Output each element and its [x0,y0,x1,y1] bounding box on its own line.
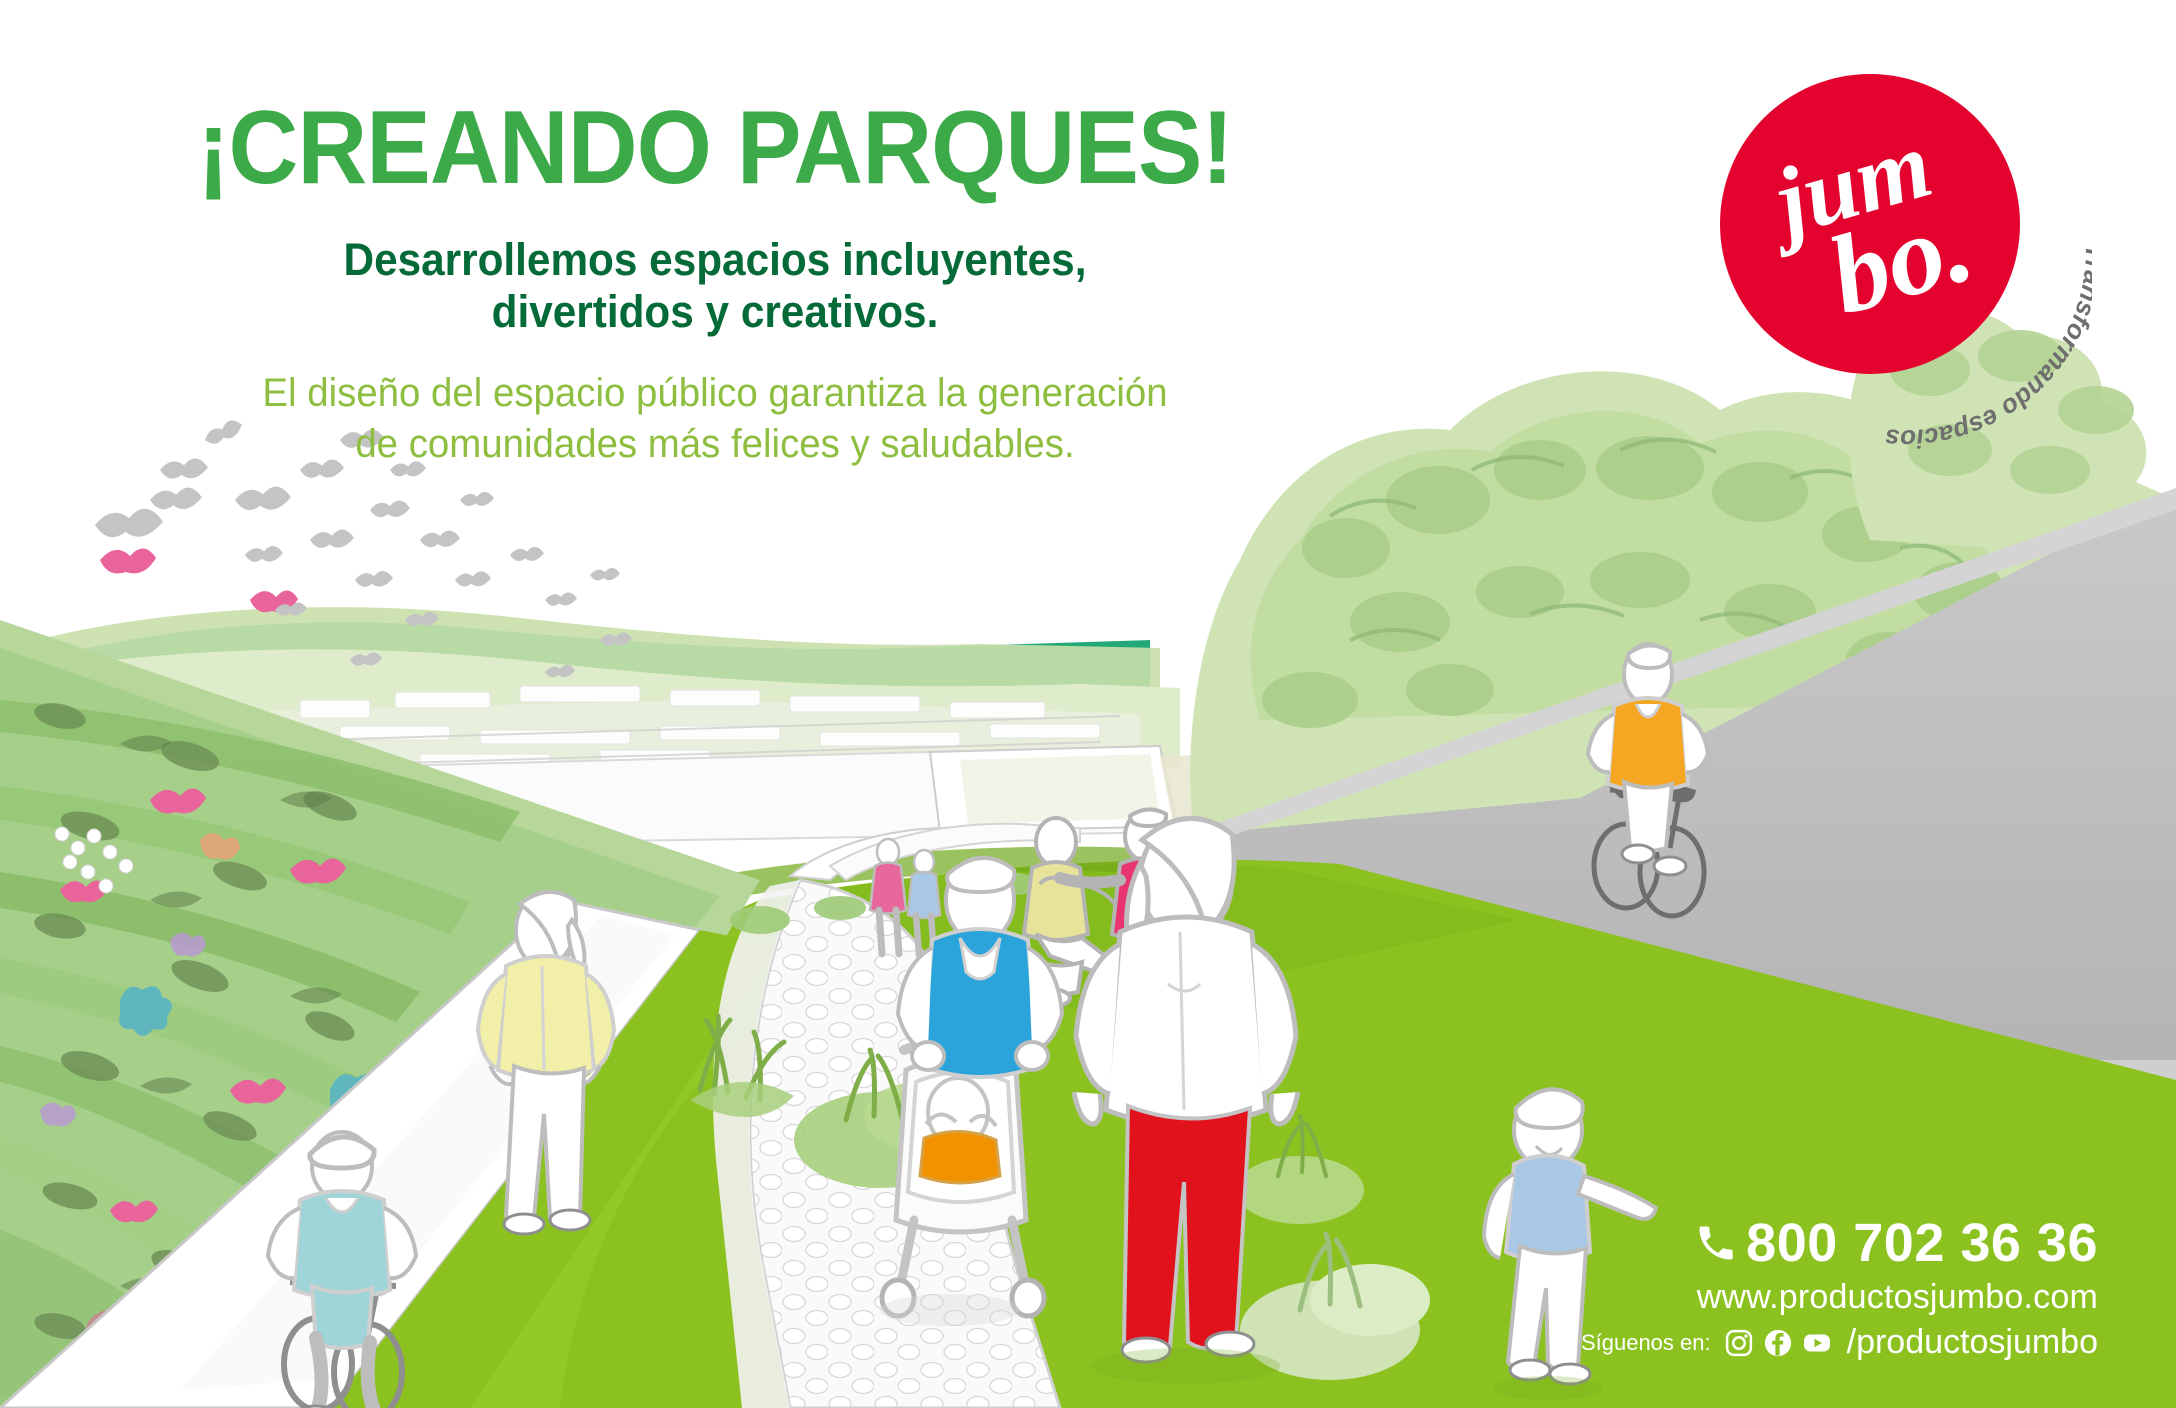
follow-label: Síguenos en: [1581,1330,1711,1356]
page-title: ¡CREANDO PARQUES! [50,96,1380,200]
instagram-icon[interactable] [1724,1328,1754,1358]
phone-icon [1694,1221,1738,1265]
contact-block: 800 702 36 36 www.productosjumbo.com Síg… [1581,1216,2098,1362]
subheading: Desarrollemos espacios incluyentes, dive… [43,234,1387,338]
website-url[interactable]: www.productosjumbo.com [1581,1278,2098,1317]
subheading-line-2: divertidos y creativos. [43,286,1387,338]
body-text: El diseño del espacio público garantiza … [29,368,1402,469]
subheading-line-1: Desarrollemos espacios incluyentes, [43,234,1387,286]
phone-row[interactable]: 800 702 36 36 [1581,1216,2098,1270]
youtube-icon[interactable] [1802,1328,1832,1358]
body-line-2: de comunidades más felices y saludables. [29,419,1402,469]
facebook-icon[interactable] [1763,1328,1793,1358]
social-handle[interactable]: /productosjumbo [1847,1323,2098,1362]
jumbo-logo[interactable]: jum bo. Transformando espacios [1692,56,2092,456]
social-row: Síguenos en: /productosjumbo [1581,1323,2098,1362]
poster-canvas: ¡CREANDO PARQUES! Desarrollemos espacios… [0,0,2176,1408]
headline-block: ¡CREANDO PARQUES! Desarrollemos espacios… [0,96,1430,469]
phone-number: 800 702 36 36 [1746,1216,2098,1270]
body-line-1: El diseño del espacio público garantiza … [29,368,1402,418]
